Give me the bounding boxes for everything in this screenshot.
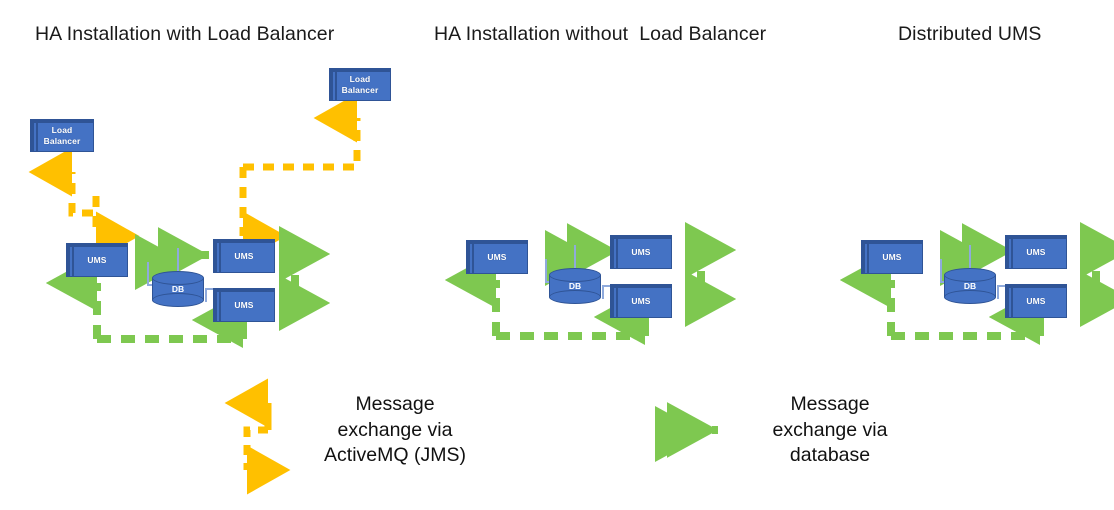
ums-box-right-top-2[interactable]: UMS — [610, 235, 672, 269]
box-stripe — [335, 69, 337, 100]
box-top-edge — [214, 289, 274, 292]
ums-label: UMS — [631, 247, 650, 257]
box-stripe — [330, 69, 333, 100]
box-top-edge — [31, 120, 93, 123]
ums-label: UMS — [631, 296, 650, 306]
legend-db-arrow — [655, 430, 718, 434]
ums-box-left-3[interactable]: UMS — [861, 240, 923, 274]
jms-connector-lb2 — [243, 118, 357, 236]
cylinder-top — [944, 268, 996, 282]
diagram-canvas: HA Installation with Load Balancer HA In… — [0, 0, 1114, 510]
legend-jms-text: Message exchange via ActiveMQ (JMS) — [300, 392, 490, 469]
db-wire-lshape-3 — [940, 259, 942, 283]
box-stripe — [219, 289, 221, 321]
box-top-edge — [611, 285, 671, 288]
cylinder-bottom — [549, 290, 601, 304]
database-cylinder-1[interactable]: DB — [152, 271, 204, 307]
box-top-edge — [862, 241, 922, 244]
box-stripe — [31, 120, 34, 151]
db-label: DB — [549, 281, 601, 291]
box-stripe — [1006, 236, 1009, 268]
box-stripe — [616, 236, 618, 268]
load-balancer-box-1[interactable]: Load Balancer — [30, 119, 94, 152]
load-balancer-label: Load Balancer — [342, 74, 379, 94]
ums-box-left-1[interactable]: UMS — [66, 243, 128, 277]
ums-label: UMS — [1026, 247, 1045, 257]
load-balancer-box-2[interactable]: Load Balancer — [329, 68, 391, 101]
box-stripe — [67, 244, 70, 276]
ums-label: UMS — [234, 251, 253, 261]
box-stripe — [72, 244, 74, 276]
box-top-edge — [611, 236, 671, 239]
ums-box-right-top-3[interactable]: UMS — [1005, 235, 1067, 269]
box-top-edge — [1006, 236, 1066, 239]
cylinder-top — [152, 271, 204, 285]
ums-box-right-top-1[interactable]: UMS — [213, 239, 275, 273]
box-top-edge — [1006, 285, 1066, 288]
box-stripe — [611, 285, 614, 317]
db-wire-right-1b — [205, 288, 207, 302]
ums-box-right-bottom-1[interactable]: UMS — [213, 288, 275, 322]
database-cylinder-3[interactable]: DB — [944, 268, 996, 304]
box-top-edge — [467, 241, 527, 244]
box-stripe — [1006, 285, 1009, 317]
ums-box-right-bottom-2[interactable]: UMS — [610, 284, 672, 318]
db-wire-right-3b — [997, 285, 999, 299]
db-wire-lshape-2 — [545, 259, 547, 283]
load-balancer-label: Load Balancer — [44, 125, 81, 145]
database-cylinder-2[interactable]: DB — [549, 268, 601, 304]
box-stripe — [611, 236, 614, 268]
db-label: DB — [944, 281, 996, 291]
ums-label: UMS — [1026, 296, 1045, 306]
box-stripe — [867, 241, 869, 273]
db-wire-top-2 — [574, 245, 576, 269]
box-stripe — [472, 241, 474, 273]
jms-connector-lb1 — [72, 172, 96, 236]
box-top-edge — [214, 240, 274, 243]
cylinder-top — [549, 268, 601, 282]
box-stripe — [1011, 285, 1013, 317]
ums-label: UMS — [882, 252, 901, 262]
box-top-edge — [330, 69, 390, 72]
box-stripe — [219, 240, 221, 272]
ums-box-right-bottom-3[interactable]: UMS — [1005, 284, 1067, 318]
box-stripe — [862, 241, 865, 273]
box-stripe — [1011, 236, 1013, 268]
db-label: DB — [152, 284, 204, 294]
cylinder-bottom — [152, 293, 204, 307]
box-stripe — [616, 285, 618, 317]
db-wire-right-2b — [602, 285, 604, 299]
box-stripe — [214, 289, 217, 321]
db-wire-top-3 — [969, 245, 971, 269]
box-top-edge — [67, 244, 127, 247]
ums-label: UMS — [234, 300, 253, 310]
db-wire-lshape-1 — [147, 262, 149, 286]
cylinder-bottom — [944, 290, 996, 304]
legend-db-text: Message exchange via database — [740, 392, 920, 469]
legend-jms-arrow — [247, 403, 268, 470]
box-stripe — [36, 120, 38, 151]
box-stripe — [214, 240, 217, 272]
db-wire-top-1 — [177, 248, 179, 272]
connector-layer — [0, 0, 1114, 510]
ums-label: UMS — [487, 252, 506, 262]
box-stripe — [467, 241, 470, 273]
ums-box-left-2[interactable]: UMS — [466, 240, 528, 274]
ums-label: UMS — [87, 255, 106, 265]
